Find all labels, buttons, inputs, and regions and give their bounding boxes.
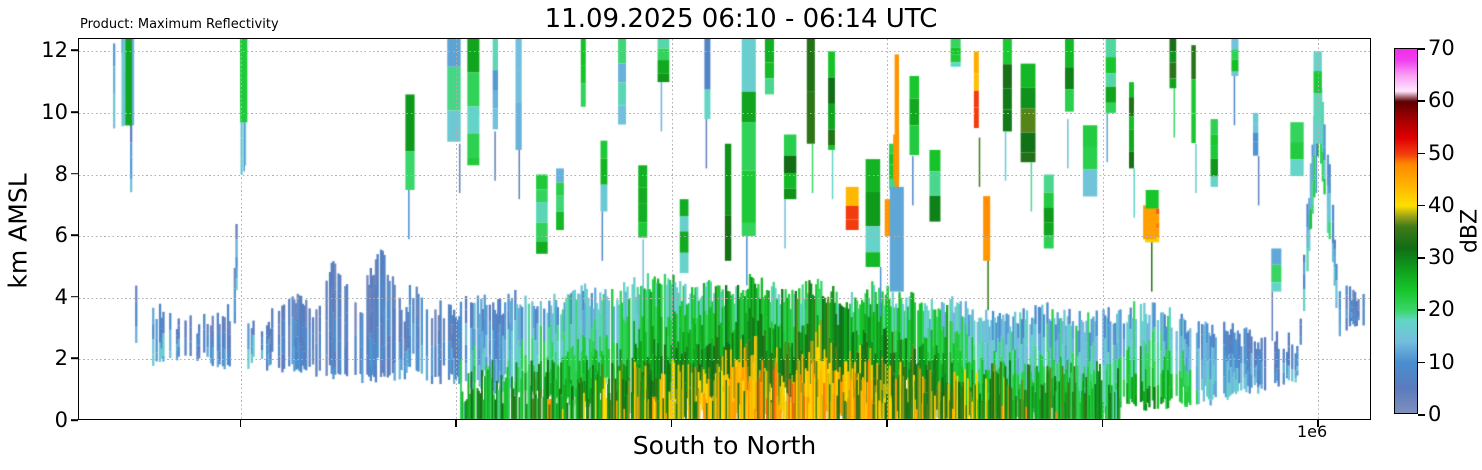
y-tick-label: 4 bbox=[55, 285, 68, 309]
colorbar-tick-mark bbox=[1418, 257, 1425, 259]
y-tick-mark bbox=[71, 234, 78, 236]
colorbar-tick-mark bbox=[1418, 414, 1425, 416]
x-tick-mark bbox=[1102, 420, 1104, 427]
colorbar-tick-mark bbox=[1418, 153, 1425, 155]
y-axis-label: km AMSL bbox=[4, 173, 33, 288]
plot-area bbox=[78, 38, 1371, 420]
gridline-horizontal bbox=[79, 298, 1370, 299]
gridline-vertical bbox=[672, 39, 673, 419]
gridline-vertical bbox=[241, 39, 242, 419]
y-tick-mark bbox=[71, 173, 78, 175]
colorbar bbox=[1394, 48, 1418, 414]
gridline-vertical bbox=[456, 39, 457, 419]
colorbar-tick-mark bbox=[1418, 362, 1425, 364]
y-tick-label: 0 bbox=[55, 408, 68, 432]
y-tick-label: 6 bbox=[55, 223, 68, 247]
colorbar-tick-label: 10 bbox=[1428, 350, 1455, 374]
x-tick-mark bbox=[671, 420, 673, 427]
y-tick-label: 2 bbox=[55, 346, 68, 370]
colorbar-tick-mark bbox=[1418, 205, 1425, 207]
x-axis-offset-label: 1e6 bbox=[1297, 422, 1327, 441]
product-label: Product: Maximum Reflectivity bbox=[80, 17, 279, 32]
gridline-horizontal bbox=[79, 175, 1370, 176]
gridline-horizontal bbox=[79, 359, 1370, 360]
colorbar-tick-label: 0 bbox=[1428, 402, 1441, 426]
colorbar-canvas bbox=[1395, 49, 1418, 414]
y-tick-mark bbox=[71, 50, 78, 52]
y-tick-mark bbox=[71, 296, 78, 298]
y-tick-label: 12 bbox=[41, 38, 68, 62]
colorbar-tick-mark bbox=[1418, 48, 1425, 50]
gridline-vertical bbox=[1318, 39, 1319, 419]
radar-cross-section-figure: 11.09.2025 06:10 - 06:14 UTC Product: Ma… bbox=[0, 0, 1482, 470]
y-tick-label: 8 bbox=[55, 162, 68, 186]
gridline-horizontal bbox=[79, 51, 1370, 52]
colorbar-tick-label: 60 bbox=[1428, 88, 1455, 112]
colorbar-tick-label: 40 bbox=[1428, 193, 1455, 217]
colorbar-tick-label: 30 bbox=[1428, 245, 1455, 269]
colorbar-tick-mark bbox=[1418, 309, 1425, 311]
y-tick-label: 10 bbox=[41, 100, 68, 124]
x-tick-mark bbox=[240, 420, 242, 427]
reflectivity-heatmap-canvas bbox=[79, 39, 1371, 420]
x-tick-mark bbox=[455, 420, 457, 427]
x-axis-label: South to North bbox=[0, 431, 1449, 460]
colorbar-tick-label: 20 bbox=[1428, 297, 1455, 321]
colorbar-tick-mark bbox=[1418, 100, 1425, 102]
colorbar-tick-label: 50 bbox=[1428, 141, 1455, 165]
y-axis-label-holder: km AMSL bbox=[24, 0, 26, 470]
gridline-vertical bbox=[887, 39, 888, 419]
colorbar-tick-label: 70 bbox=[1428, 36, 1455, 60]
y-tick-mark bbox=[71, 358, 78, 360]
gridline-horizontal bbox=[79, 113, 1370, 114]
x-tick-mark bbox=[886, 420, 888, 427]
y-tick-mark bbox=[71, 111, 78, 113]
colorbar-title: dBZ bbox=[1458, 209, 1482, 253]
y-tick-mark bbox=[71, 419, 78, 421]
gridline-horizontal bbox=[79, 236, 1370, 237]
gridline-vertical bbox=[1103, 39, 1104, 419]
